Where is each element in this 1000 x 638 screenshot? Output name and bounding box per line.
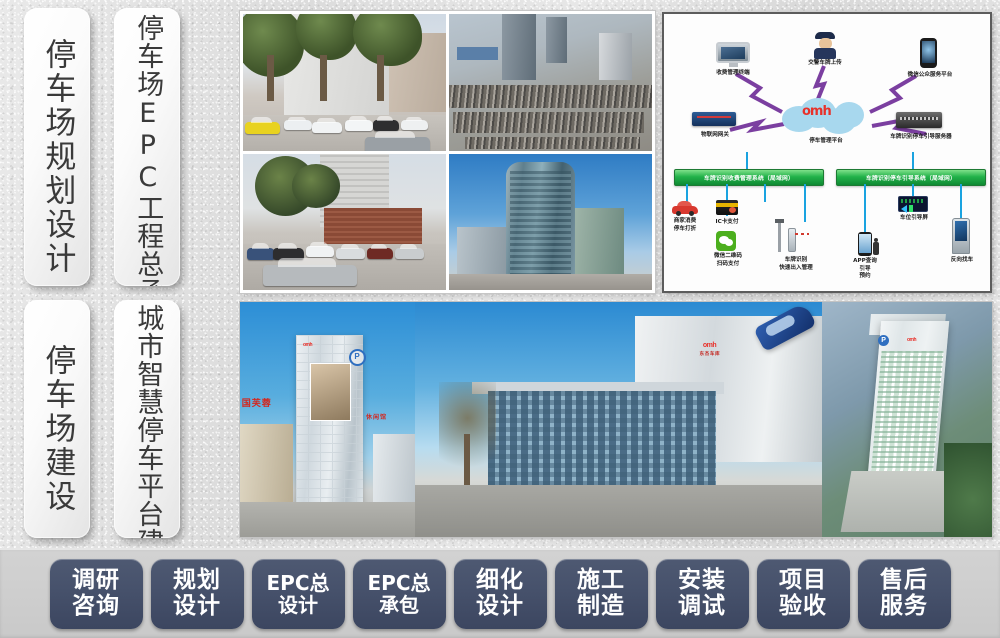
child-label-app-query: APP查询 引导 预约 bbox=[840, 258, 890, 281]
cloud-platform-label: 停车管理平台 bbox=[792, 138, 860, 146]
step-line1: EPC总 bbox=[267, 572, 330, 594]
step-line2: 验收 bbox=[779, 594, 827, 620]
step-line2: 设计 bbox=[278, 594, 318, 616]
monitor-icon bbox=[716, 42, 750, 66]
server-icon bbox=[896, 112, 942, 128]
kiosk-icon bbox=[952, 218, 970, 254]
node-label-charging-terminal: 收费管理终端 bbox=[692, 70, 774, 78]
child-label-space-guidance-screen: 车位引导屏 bbox=[890, 215, 938, 223]
node-label-wechat-platform: 微信公众服务平台 bbox=[888, 72, 972, 80]
photo-street-parking bbox=[243, 14, 446, 151]
sidebar-item-parking-epc-contracting[interactable]: 停车场EPC工程总承包 bbox=[114, 8, 180, 286]
step-after-sales-service[interactable]: 售后 服务 bbox=[858, 559, 951, 629]
signboard-left: 国芙蓉 bbox=[242, 396, 272, 409]
step-construction-manufacturing[interactable]: 施工 制造 bbox=[555, 559, 648, 629]
step-epc-contract[interactable]: EPC总 承包 bbox=[353, 559, 446, 629]
system-box-guidance: 车牌识别停车引导系统（局域网） bbox=[836, 169, 986, 186]
step-line2: 调试 bbox=[678, 594, 726, 620]
process-step-bar: 调研 咨询 规划 设计 EPC总 设计 EPC总 承包 细化 设计 施工 制造 … bbox=[0, 548, 1000, 638]
police-officer-icon bbox=[814, 32, 836, 58]
gateway-icon bbox=[692, 112, 736, 126]
step-line1: 调研 bbox=[72, 568, 120, 594]
step-line2: 服务 bbox=[880, 594, 928, 620]
sidebar-item-parking-construction[interactable]: 停车场建设 bbox=[24, 300, 90, 538]
step-epc-design[interactable]: EPC总 设计 bbox=[252, 559, 345, 629]
tab-label: 停车场规划设计 bbox=[41, 8, 74, 276]
step-install-commissioning[interactable]: 安装 调试 bbox=[656, 559, 749, 629]
step-line1: 项目 bbox=[779, 568, 827, 594]
system-architecture-diagram: 收费管理终端 交警车牌上传 微信公众服务平台 物联网网关 车牌识别停车引导服务器 bbox=[662, 12, 992, 293]
tab-label: 城市智慧停车平台建设 bbox=[133, 300, 162, 538]
app-phone-icon bbox=[858, 232, 872, 256]
step-planning-design[interactable]: 规划 设计 bbox=[151, 559, 244, 629]
system-box-charging: 车牌识别收费管理系统（局域网） bbox=[674, 169, 824, 186]
node-label-traffic-police-upload: 交警车牌上传 bbox=[786, 60, 864, 68]
omh-brand-cn: 东杰车库 bbox=[699, 351, 720, 357]
child-label-lpr-entry: 车牌识别 快速出入管理 bbox=[764, 257, 828, 272]
red-car-icon bbox=[672, 200, 698, 216]
omh-logo: omh bbox=[703, 342, 716, 349]
step-line2: 咨询 bbox=[72, 594, 120, 620]
render-aerial-tower: P omh bbox=[822, 302, 992, 537]
step-line2: 制造 bbox=[577, 594, 625, 620]
parking-p-logo: P bbox=[349, 349, 366, 366]
tab-label: 停车场建设 bbox=[41, 300, 74, 514]
sidebar-item-smart-parking-platform[interactable]: 城市智慧停车平台建设 bbox=[114, 300, 180, 538]
step-research-consulting[interactable]: 调研 咨询 bbox=[50, 559, 143, 629]
child-label-reverse-car-finding: 反向找车 bbox=[936, 257, 988, 265]
led-display-icon bbox=[898, 196, 928, 212]
omh-logo: omh bbox=[907, 337, 916, 343]
render-garage-building: omh 东杰车库 bbox=[415, 302, 822, 537]
tab-label: 停车场EPC工程总承包 bbox=[133, 8, 162, 286]
signboard-right: 休闲馆 bbox=[366, 412, 387, 421]
render-parking-tower-street: P omh 国芙蓉 休闲馆 bbox=[240, 302, 415, 537]
step-line1: 细化 bbox=[476, 568, 524, 594]
parking-p-logo: P bbox=[878, 335, 889, 346]
photo-aerial-city bbox=[449, 14, 652, 151]
omh-logo: omh bbox=[303, 342, 312, 348]
child-label-ic-card: IC卡支付 bbox=[702, 219, 752, 227]
step-line1: 施工 bbox=[577, 568, 625, 594]
smartphone-icon bbox=[920, 38, 937, 68]
wechat-icon bbox=[716, 231, 736, 251]
ic-card-icon bbox=[716, 200, 738, 215]
omh-logo: omh bbox=[802, 104, 831, 119]
child-label-wechat-qr: 微信二维码 扫码支付 bbox=[700, 253, 756, 268]
node-label-iot-gateway: 物联网网关 bbox=[680, 132, 750, 140]
cloud-platform-icon: omh bbox=[782, 96, 868, 136]
step-project-acceptance[interactable]: 项目 验收 bbox=[757, 559, 850, 629]
step-line1: 安装 bbox=[678, 568, 726, 594]
step-line1: 规划 bbox=[173, 568, 221, 594]
photo-compound-parking bbox=[243, 154, 446, 291]
photo-office-tower bbox=[449, 154, 652, 291]
photo-grid bbox=[240, 11, 655, 293]
step-detail-design[interactable]: 细化 设计 bbox=[454, 559, 547, 629]
step-line2: 设计 bbox=[476, 594, 524, 620]
step-line1: 售后 bbox=[880, 568, 928, 594]
step-line1: EPC总 bbox=[368, 572, 431, 594]
render-strip: P omh 国芙蓉 休闲馆 omh 东杰车库 P omh bbox=[240, 302, 992, 537]
step-line2: 承包 bbox=[379, 594, 419, 616]
node-label-lpr-guidance-server: 车牌识别停车引导服务器 bbox=[876, 134, 966, 142]
sidebar-item-parking-planning-design[interactable]: 停车场规划设计 bbox=[24, 8, 90, 286]
barrier-gate-icon bbox=[776, 220, 800, 254]
infographic-root: 停车场规划设计 停车场EPC工程总承包 停车场建设 城市智慧停车平台建设 bbox=[0, 0, 1000, 638]
step-line2: 设计 bbox=[173, 594, 221, 620]
